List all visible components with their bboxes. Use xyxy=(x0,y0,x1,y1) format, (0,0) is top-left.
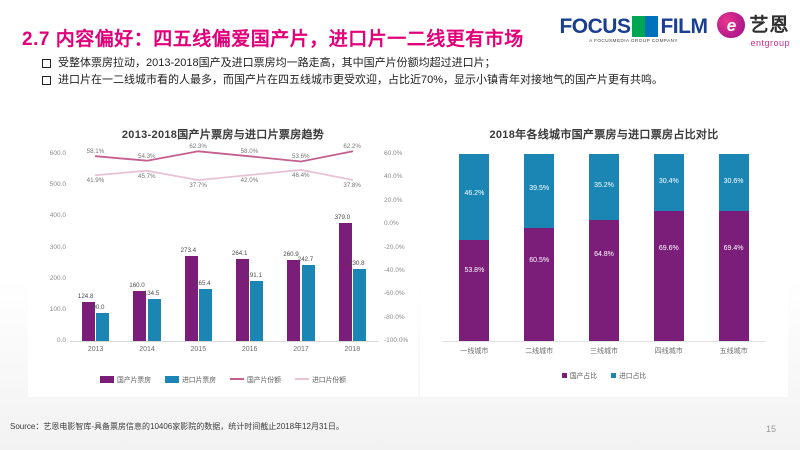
list-item: 受整体票房拉动，2013-2018国产及进口票房均一路走高，其中国产片份额均超过… xyxy=(42,56,757,72)
stacked-bar: 30.6%69.4% xyxy=(719,154,749,341)
segment-import-label: 39.5% xyxy=(529,185,549,192)
legend-swatch xyxy=(562,373,567,378)
x-axis-tick: 二线城市 xyxy=(513,346,565,356)
legend-swatch xyxy=(611,373,616,378)
legend-item: 进口占比 xyxy=(611,370,646,380)
focus-square-icon xyxy=(632,16,658,37)
segment-domestic: 60.5% xyxy=(524,228,554,341)
stacked-bar: 35.2%64.8% xyxy=(589,154,619,341)
bullet-text: 进口片在一二线城市看的人最多，而国产片在四五线城市更受欢迎，占比近70%，显示小… xyxy=(58,73,757,89)
list-item: 进口片在一二线城市看的人最多，而国产片在四五线城市更受欢迎，占比近70%，显示小… xyxy=(42,73,757,89)
segment-import-label: 46.2% xyxy=(464,190,484,197)
trend-legend: 国产片票房进口片票房国产片份额进口片份额 xyxy=(28,374,418,384)
line-value-label: 37.8% xyxy=(343,182,361,189)
square-bullet-icon xyxy=(42,76,51,85)
segment-domestic: 69.4% xyxy=(719,211,749,341)
segment-import: 46.2% xyxy=(459,154,489,240)
city-tier-plot-area: 46.2%53.8%一线城市39.5%60.5%二线城市35.2%64.8%三线… xyxy=(420,144,788,369)
segment-import: 39.5% xyxy=(524,154,554,228)
segment-import: 30.4% xyxy=(654,154,684,211)
city-tier-chart: 2018年各线城市国产票房与进口票房占比对比 46.2%53.8%一线城市39.… xyxy=(420,122,788,397)
page-number: 15 xyxy=(766,424,776,434)
slide: 2.7 内容偏好：四五线偏爱国产片，进口片一二线更有市场 FOCUS FILM … xyxy=(0,0,800,450)
trend-plot-area: 0.0100.0200.0300.0400.0500.0600.060.0%40… xyxy=(28,144,418,369)
page-title: 2.7 内容偏好：四五线偏爱国产片，进口片一二线更有市场 xyxy=(22,24,524,51)
x-axis-tick: 三线城市 xyxy=(578,346,630,356)
legend-label: 国产片票房 xyxy=(117,374,151,384)
legend-swatch xyxy=(230,378,244,380)
trend-chart-title: 2013-2018国产片票房与进口片票房趋势 xyxy=(28,122,418,142)
segment-import: 30.6% xyxy=(719,154,749,211)
segment-import: 35.2% xyxy=(589,154,619,220)
bullet-text: 受整体票房拉动，2013-2018国产及进口票房均一路走高，其中国产片份额均超过… xyxy=(58,56,757,72)
line-value-label: 37.7% xyxy=(189,182,207,189)
segment-domestic-label: 60.5% xyxy=(529,257,549,264)
segment-import-label: 30.4% xyxy=(659,178,679,185)
square-bullet-icon xyxy=(42,59,51,68)
entgroup-logo: e 艺恩 entgroup xyxy=(717,12,790,48)
legend-label: 进口占比 xyxy=(619,370,646,380)
entgroup-e-icon: e xyxy=(717,12,745,38)
line-value-label: 58.0% xyxy=(241,148,259,155)
legend-label: 国产片份额 xyxy=(247,374,281,384)
line-value-label: 42.0% xyxy=(241,177,259,184)
line-value-label: 54.3% xyxy=(138,153,156,160)
focus-wordmark: FOCUS xyxy=(559,16,630,37)
legend-swatch xyxy=(100,376,114,383)
segment-domestic: 64.8% xyxy=(589,220,619,341)
source-note: Source：艺恩电影智库-具备票房信息的10406家影院的数据，统计时间截止2… xyxy=(10,421,344,432)
bullet-list: 受整体票房拉动，2013-2018国产及进口票房均一路走高，其中国产片份额均超过… xyxy=(42,56,757,90)
entgroup-cn-name: 艺恩 xyxy=(749,16,789,35)
legend-item: 国产占比 xyxy=(562,370,597,380)
segment-domestic-label: 53.8% xyxy=(464,267,484,274)
line-value-label: 58.1% xyxy=(87,148,105,155)
legend-label: 进口片份额 xyxy=(312,374,346,384)
segment-domestic: 69.6% xyxy=(654,211,684,341)
entgroup-sub: entgroup xyxy=(750,39,790,48)
segment-domestic: 53.8% xyxy=(459,240,489,341)
line-value-label: 41.9% xyxy=(87,177,105,184)
focus-film-logo: FOCUS FILM A FOCUSMEDIA GROUP COMPANY xyxy=(559,16,707,44)
legend-item: 国产片份额 xyxy=(230,374,281,384)
stacked-bar: 39.5%60.5% xyxy=(524,154,554,341)
segment-import-label: 35.2% xyxy=(594,182,614,189)
x-axis-tick: 一线城市 xyxy=(448,346,500,356)
line-value-label: 62.3% xyxy=(189,143,207,150)
stacked-bar: 46.2%53.8% xyxy=(459,154,489,341)
line-value-label: 53.6% xyxy=(292,153,310,160)
line-value-label: 62.2% xyxy=(343,143,361,150)
segment-import-label: 30.6% xyxy=(724,178,744,185)
city-tier-chart-title: 2018年各线城市国产票房与进口票房占比对比 xyxy=(420,122,788,142)
line-value-label: 45.7% xyxy=(138,173,156,180)
legend-swatch xyxy=(165,376,179,383)
x-axis-tick: 五线城市 xyxy=(708,346,760,356)
trend-chart: 2013-2018国产片票房与进口片票房趋势 0.0100.0200.0300.… xyxy=(28,122,418,397)
legend-item: 进口片票房 xyxy=(165,374,216,384)
legend-item: 进口片份额 xyxy=(295,374,346,384)
segment-domestic-label: 69.4% xyxy=(724,245,744,252)
logo-group: FOCUS FILM A FOCUSMEDIA GROUP COMPANY e … xyxy=(559,12,790,48)
focus-tagline: A FOCUSMEDIA GROUP COMPANY xyxy=(589,39,678,44)
segment-domestic-label: 64.8% xyxy=(594,251,614,258)
axis-baseline xyxy=(442,341,766,342)
city-tier-legend: 国产占比进口占比 xyxy=(420,370,788,380)
stacked-bar: 30.4%69.6% xyxy=(654,154,684,341)
film-wordmark: FILM xyxy=(660,16,707,37)
legend-swatch xyxy=(295,378,309,380)
legend-label: 进口片票房 xyxy=(182,374,216,384)
segment-domestic-label: 69.6% xyxy=(659,245,679,252)
line-value-label: 46.4% xyxy=(292,172,310,179)
x-axis-tick: 四线城市 xyxy=(643,346,695,356)
legend-label: 国产占比 xyxy=(570,370,597,380)
legend-item: 国产片票房 xyxy=(100,374,151,384)
